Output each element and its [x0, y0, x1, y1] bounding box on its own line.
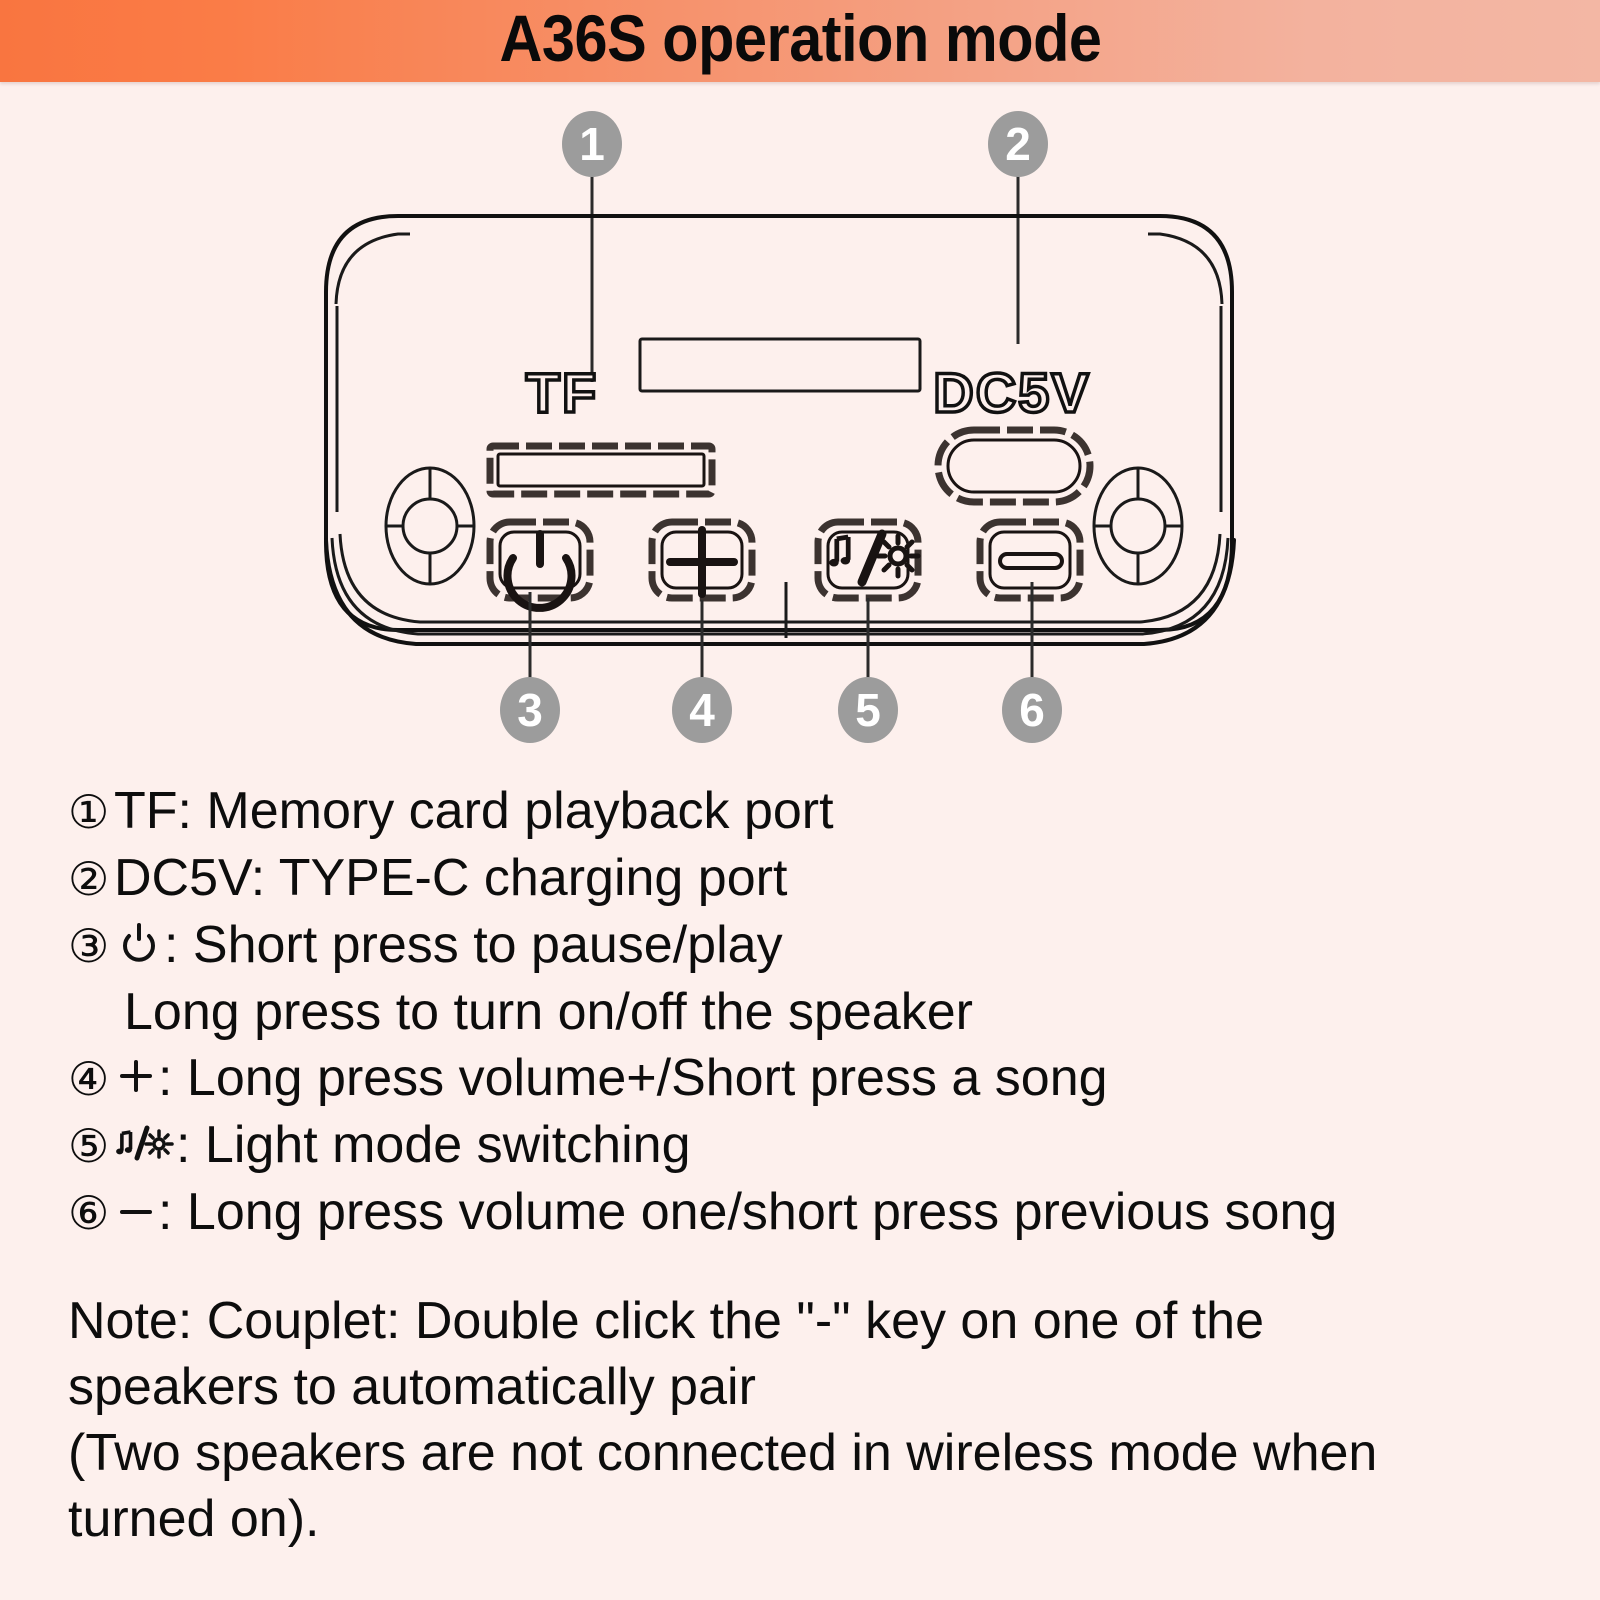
feature-item-5-number: ⑤	[68, 1113, 114, 1179]
bevel-right	[1148, 234, 1222, 304]
feature-item-3-number: ③	[68, 913, 114, 979]
feature-item-6-label: : Long press volume one/short press prev…	[158, 1179, 1337, 1245]
feature-item-1-number: ①	[68, 779, 114, 845]
feature-item-1: ① TF: Memory card playback port	[68, 778, 1568, 845]
device-label-dc5v: DC5V	[933, 361, 1090, 424]
feature-item-2-number: ②	[68, 846, 114, 912]
callout-badge-1-label: 1	[579, 118, 605, 170]
feature-item-4-number: ④	[68, 1046, 114, 1112]
power-icon	[116, 916, 162, 982]
feature-item-6-number: ⑥	[68, 1180, 114, 1246]
tf-slot[interactable]	[490, 446, 712, 494]
feature-item-3-label: : Short press to pause/play	[164, 912, 783, 978]
music-light-icon	[829, 534, 918, 582]
music-light-icon	[116, 1116, 174, 1182]
callout-badge-2-label: 2	[1005, 118, 1031, 170]
feature-item-5: ⑤	[68, 1112, 1568, 1179]
callout-badge-5[interactable]: 5	[838, 677, 898, 743]
page-title: A36S operation mode	[499, 5, 1101, 77]
callout-badge-6-label: 6	[1019, 684, 1045, 736]
button-minus[interactable]	[980, 522, 1080, 598]
feature-item-4-label: : Long press volume+/Short press a song	[158, 1045, 1108, 1111]
feature-item-4: ④ : Long press volume+/Short press a son…	[68, 1045, 1568, 1112]
feature-list: ① TF: Memory card playback port ② DC5V: …	[68, 778, 1568, 1246]
minus-icon	[116, 1183, 156, 1249]
page-header-banner: A36S operation mode	[0, 0, 1600, 82]
left-speaker-port-icon	[386, 468, 474, 584]
note-line-4: turned on).	[68, 1486, 1568, 1552]
feature-item-2: ② DC5V: TYPE-C charging port	[68, 845, 1568, 912]
callout-leaders-top	[592, 158, 1018, 382]
callout-badge-5-label: 5	[855, 684, 881, 736]
right-speaker-port-icon	[1094, 468, 1182, 584]
note-line-2: speakers to automatically pair	[68, 1354, 1568, 1420]
callout-badge-3[interactable]: 3	[500, 677, 560, 743]
callout-badge-3-label: 3	[517, 684, 543, 736]
bevel-left	[336, 234, 410, 304]
device-diagram: .ln { fill:none; stroke:#111111; stroke-…	[0, 82, 1600, 762]
feature-item-1-label: TF: Memory card playback port	[114, 778, 834, 844]
a36s-operation-mode-page: A36S operation mode .ln { fill:none; str…	[0, 0, 1600, 1600]
note-block: Note: Couplet: Double click the "-" key …	[68, 1288, 1568, 1552]
callout-badge-4[interactable]: 4	[672, 677, 732, 743]
feature-item-6: ⑥ : Long press volume one/short press pr…	[68, 1179, 1568, 1246]
base-rim-2	[332, 538, 1228, 634]
device-label-tf: TF	[526, 361, 598, 424]
feature-item-5-label: : Light mode switching	[176, 1112, 691, 1178]
plus-icon	[116, 1049, 156, 1115]
device-diagram-svg: .ln { fill:none; stroke:#111111; stroke-…	[0, 82, 1600, 762]
feature-item-3-continuation-label: Long press to turn on/off the speaker	[124, 979, 973, 1045]
callout-badge-2[interactable]: 2	[988, 111, 1048, 177]
minus-icon	[1000, 554, 1062, 568]
feature-item-3-continuation: Long press to turn on/off the speaker	[68, 979, 1568, 1045]
display-window	[640, 339, 920, 391]
dc5v-port[interactable]	[938, 430, 1090, 502]
callout-badge-6[interactable]: 6	[1002, 677, 1062, 743]
device-body: TF DC5V	[326, 216, 1234, 644]
note-line-3: (Two speakers are not connected in wirel…	[68, 1420, 1568, 1486]
feature-item-3: ③ : Short press to pause/play	[68, 912, 1568, 979]
plus-icon	[670, 530, 734, 594]
feature-item-2-label: DC5V: TYPE-C charging port	[114, 845, 787, 911]
note-line-1: Note: Couplet: Double click the "-" key …	[68, 1288, 1568, 1354]
callout-badge-4-label: 4	[689, 684, 715, 736]
callout-badge-1[interactable]: 1	[562, 111, 622, 177]
